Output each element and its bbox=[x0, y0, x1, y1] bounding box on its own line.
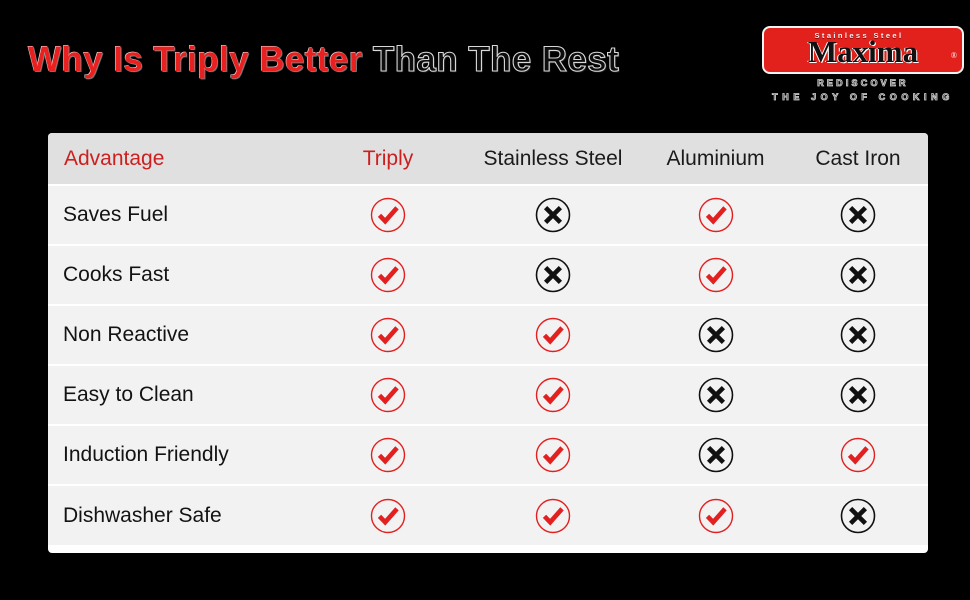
brand-logo: Stainless Steel Maxima ® REDISCOVER THE … bbox=[762, 26, 964, 110]
table-row: Cooks Fast bbox=[48, 245, 928, 305]
cross-circle-icon bbox=[838, 375, 878, 415]
row-label-advantage: Easy to Clean bbox=[48, 365, 313, 425]
cell-stainless-steel bbox=[463, 185, 643, 245]
logo-plate: Stainless Steel Maxima ® bbox=[762, 26, 964, 74]
cell-aluminium bbox=[643, 365, 788, 425]
page-title-highlight: Why Is Triply Better bbox=[28, 40, 363, 79]
column-header-cast-iron: Cast Iron bbox=[788, 133, 928, 185]
cross-circle-icon bbox=[838, 195, 878, 235]
table-row: Saves Fuel bbox=[48, 185, 928, 245]
table-row: Induction Friendly bbox=[48, 425, 928, 485]
cell-cast-iron bbox=[788, 245, 928, 305]
cell-triply bbox=[313, 305, 463, 365]
row-label-advantage: Dishwasher Safe bbox=[48, 485, 313, 545]
table-header-row: Advantage Triply Stainless Steel Alumini… bbox=[48, 133, 928, 185]
cross-circle-icon bbox=[838, 255, 878, 295]
check-circle-icon bbox=[533, 375, 573, 415]
check-circle-icon bbox=[838, 435, 878, 475]
cell-aluminium bbox=[643, 245, 788, 305]
check-circle-icon bbox=[368, 255, 408, 295]
cell-stainless-steel bbox=[463, 425, 643, 485]
cell-stainless-steel bbox=[463, 245, 643, 305]
check-circle-icon bbox=[533, 435, 573, 475]
table-body: Saves FuelCooks FastNon ReactiveEasy to … bbox=[48, 185, 928, 545]
check-circle-icon bbox=[533, 496, 573, 536]
check-circle-icon bbox=[368, 315, 408, 355]
comparison-infographic: Why Is Triply Better Than The Rest Stain… bbox=[0, 0, 970, 600]
cross-circle-icon bbox=[838, 315, 878, 355]
cell-triply bbox=[313, 185, 463, 245]
cell-cast-iron bbox=[788, 365, 928, 425]
row-label-advantage: Non Reactive bbox=[48, 305, 313, 365]
check-circle-icon bbox=[696, 496, 736, 536]
comparison-table-container: Advantage Triply Stainless Steel Alumini… bbox=[48, 133, 928, 553]
check-circle-icon bbox=[368, 195, 408, 235]
cell-aluminium bbox=[643, 485, 788, 545]
cell-triply bbox=[313, 485, 463, 545]
cross-circle-icon bbox=[533, 195, 573, 235]
cell-aluminium bbox=[643, 305, 788, 365]
cell-triply bbox=[313, 245, 463, 305]
comparison-table: Advantage Triply Stainless Steel Alumini… bbox=[48, 133, 928, 545]
column-header-aluminium: Aluminium bbox=[643, 133, 788, 185]
check-circle-icon bbox=[696, 195, 736, 235]
cell-triply bbox=[313, 365, 463, 425]
cross-circle-icon bbox=[533, 255, 573, 295]
cell-stainless-steel bbox=[463, 365, 643, 425]
page-title: Why Is Triply Better Than The Rest bbox=[28, 42, 619, 77]
cell-stainless-steel bbox=[463, 305, 643, 365]
cell-cast-iron bbox=[788, 425, 928, 485]
table-row: Easy to Clean bbox=[48, 365, 928, 425]
table-header: Advantage Triply Stainless Steel Alumini… bbox=[48, 133, 928, 185]
page-title-rest: Than The Rest bbox=[363, 40, 619, 79]
registered-trademark-icon: ® bbox=[951, 51, 957, 60]
check-circle-icon bbox=[533, 315, 573, 355]
column-header-stainless-steel: Stainless Steel bbox=[463, 133, 643, 185]
cross-circle-icon bbox=[696, 435, 736, 475]
logo-tagline-line2: THE JOY OF COOKING bbox=[762, 92, 964, 102]
cross-circle-icon bbox=[696, 375, 736, 415]
check-circle-icon bbox=[368, 496, 408, 536]
check-circle-icon bbox=[696, 255, 736, 295]
cell-stainless-steel bbox=[463, 485, 643, 545]
logo-brand-name: Maxima bbox=[764, 36, 962, 69]
check-circle-icon bbox=[368, 435, 408, 475]
table-row: Dishwasher Safe bbox=[48, 485, 928, 545]
logo-tagline-line1: REDISCOVER bbox=[762, 78, 964, 88]
cell-aluminium bbox=[643, 425, 788, 485]
cell-cast-iron bbox=[788, 305, 928, 365]
row-label-advantage: Saves Fuel bbox=[48, 185, 313, 245]
table-row: Non Reactive bbox=[48, 305, 928, 365]
column-header-advantage: Advantage bbox=[48, 133, 313, 185]
cross-circle-icon bbox=[838, 496, 878, 536]
row-label-advantage: Cooks Fast bbox=[48, 245, 313, 305]
cell-triply bbox=[313, 425, 463, 485]
check-circle-icon bbox=[368, 375, 408, 415]
row-label-advantage: Induction Friendly bbox=[48, 425, 313, 485]
cell-cast-iron bbox=[788, 185, 928, 245]
cell-cast-iron bbox=[788, 485, 928, 545]
cross-circle-icon bbox=[696, 315, 736, 355]
cell-aluminium bbox=[643, 185, 788, 245]
column-header-triply: Triply bbox=[313, 133, 463, 185]
